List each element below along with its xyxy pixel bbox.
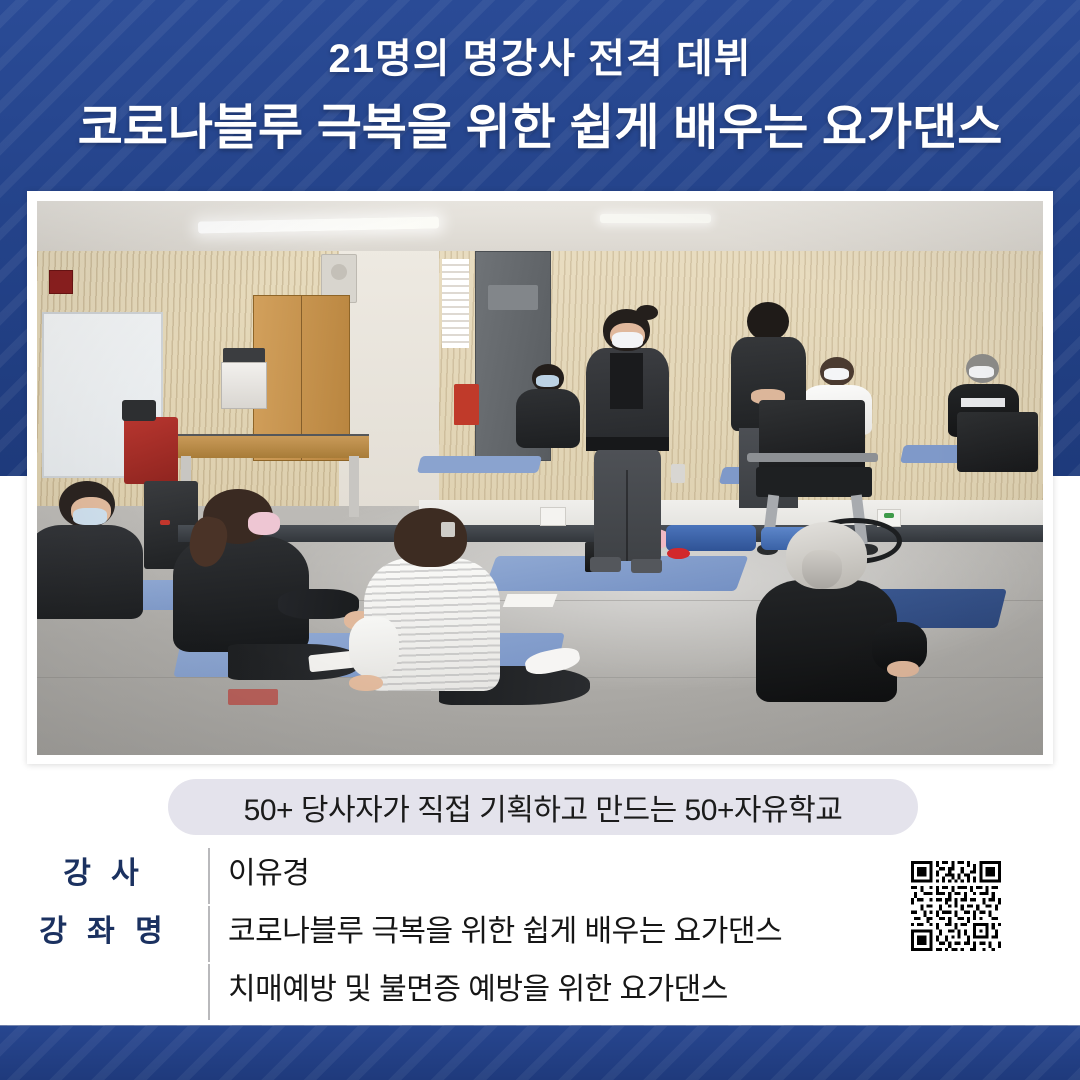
- qr-code[interactable]: [911, 861, 1001, 951]
- program-banner: 50+ 당사자가 직접 기획하고 만드는 50+자유학교: [168, 779, 918, 835]
- detail-value-course-name: 코로나블루 극복을 위한 쉽게 배우는 요가댄스: [210, 904, 782, 950]
- detail-label-empty: [0, 962, 208, 964]
- detail-value-course-name-2: 치매예방 및 불면증 예방을 위한 요가댄스: [210, 962, 728, 1008]
- detail-label-instructor: 강 사: [0, 846, 208, 892]
- photo-frame: [27, 191, 1053, 764]
- headline-group: 21명의 명강사 전격 데뷔 코로나블루 극복을 위한 쉽게 배우는 요가댄스: [0, 0, 1080, 156]
- qr-code-image: [911, 861, 1001, 951]
- photo-vignette: [37, 201, 1043, 755]
- detail-label-course-name: 강 좌 명: [0, 904, 208, 950]
- detail-value-instructor: 이유경: [210, 846, 309, 892]
- main-title: 코로나블루 극복을 위한 쉽게 배우는 요가댄스: [0, 100, 1080, 156]
- class-photo: [37, 201, 1043, 755]
- program-banner-text: 50+ 당사자가 직접 기획하고 만드는 50+자유학교: [244, 785, 843, 829]
- sub-title: 21명의 명강사 전격 데뷔: [0, 36, 1080, 82]
- detail-row-course-name-2: 치매예방 및 불면증 예방을 위한 요가댄스: [0, 962, 1080, 1020]
- bottom-navy-band: [0, 1025, 1080, 1080]
